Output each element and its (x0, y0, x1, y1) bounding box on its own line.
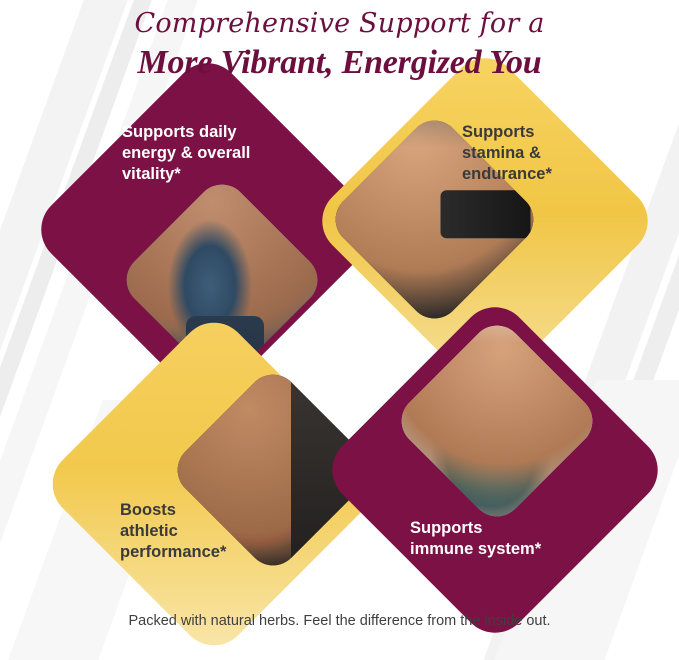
infographic-canvas: Comprehensive Support for a More Vibrant… (0, 0, 679, 660)
benefit-label-line: performance* (120, 542, 280, 563)
benefits-diamond-grid: Supports daily energy & overall vitality… (0, 0, 679, 660)
headline-line-1: Comprehensive Support for a (0, 8, 679, 39)
benefit-label-line: immune system* (410, 539, 610, 560)
benefit-label-line: Supports (410, 518, 610, 539)
benefit-label-line: vitality* (122, 164, 302, 185)
benefit-label-line: energy & overall (122, 143, 302, 164)
benefit-label-athletic: Boosts athletic performance* (120, 500, 280, 563)
benefit-label-stamina: Supports stamina & endurance* (462, 122, 612, 185)
benefit-label-line: Supports (462, 122, 612, 143)
headline-line-2: More Vibrant, Energized You (0, 44, 679, 82)
benefit-label-energy: Supports daily energy & overall vitality… (122, 122, 302, 185)
benefit-label-line: Boosts (120, 500, 280, 521)
benefit-label-line: stamina & (462, 143, 612, 164)
benefit-label-line: Supports daily (122, 122, 302, 143)
benefit-label-line: endurance* (462, 164, 612, 185)
benefit-label-line: athletic (120, 521, 280, 542)
benefit-label-immune: Supports immune system* (410, 518, 610, 560)
headline-block: Comprehensive Support for a More Vibrant… (0, 0, 679, 82)
footer-tagline: Packed with natural herbs. Feel the diff… (0, 613, 679, 629)
footer-block: Packed with natural herbs. Feel the diff… (0, 613, 679, 629)
